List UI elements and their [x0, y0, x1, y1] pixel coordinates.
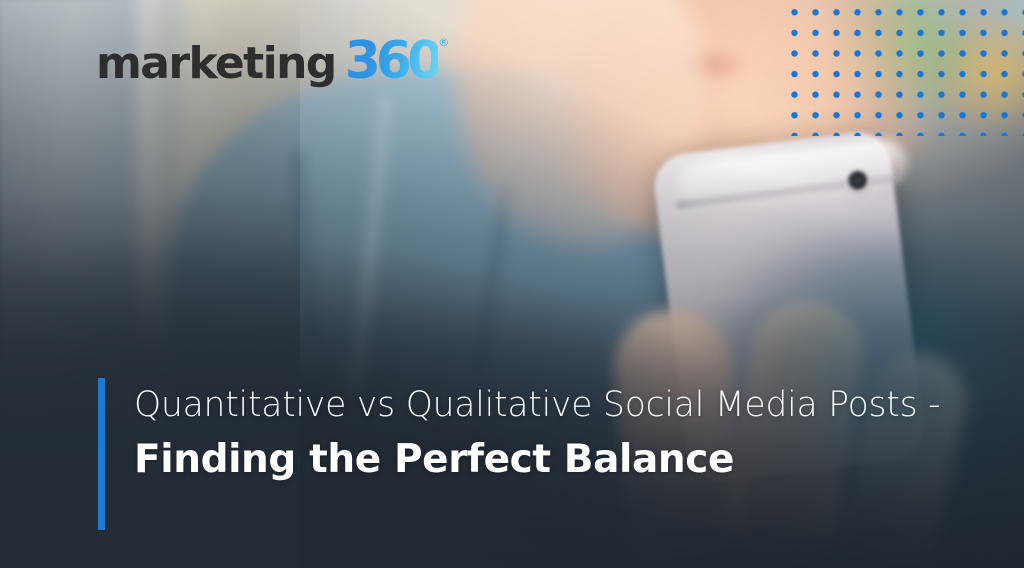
logo-360-mark: 360 ®: [345, 35, 439, 87]
dot-grid-icon: [778, 0, 1024, 136]
registered-trademark-icon: ®: [438, 37, 449, 48]
blog-header-banner: marketing 360 ® Quantitative vs Qualitat…: [0, 0, 1024, 568]
logo-360-numeral: 360: [345, 35, 439, 87]
marketing-360-logo[interactable]: marketing 360 ®: [96, 33, 438, 91]
page-title-line-1: Quantitative vs Qualitative Social Media…: [134, 386, 940, 425]
page-title-block: Quantitative vs Qualitative Social Media…: [98, 378, 998, 530]
title-accent-bar: [98, 378, 105, 530]
page-title: Quantitative vs Qualitative Social Media…: [105, 378, 940, 530]
page-title-line-2: Finding the Perfect Balance: [134, 438, 940, 483]
logo-wordmark: marketing: [96, 42, 336, 86]
